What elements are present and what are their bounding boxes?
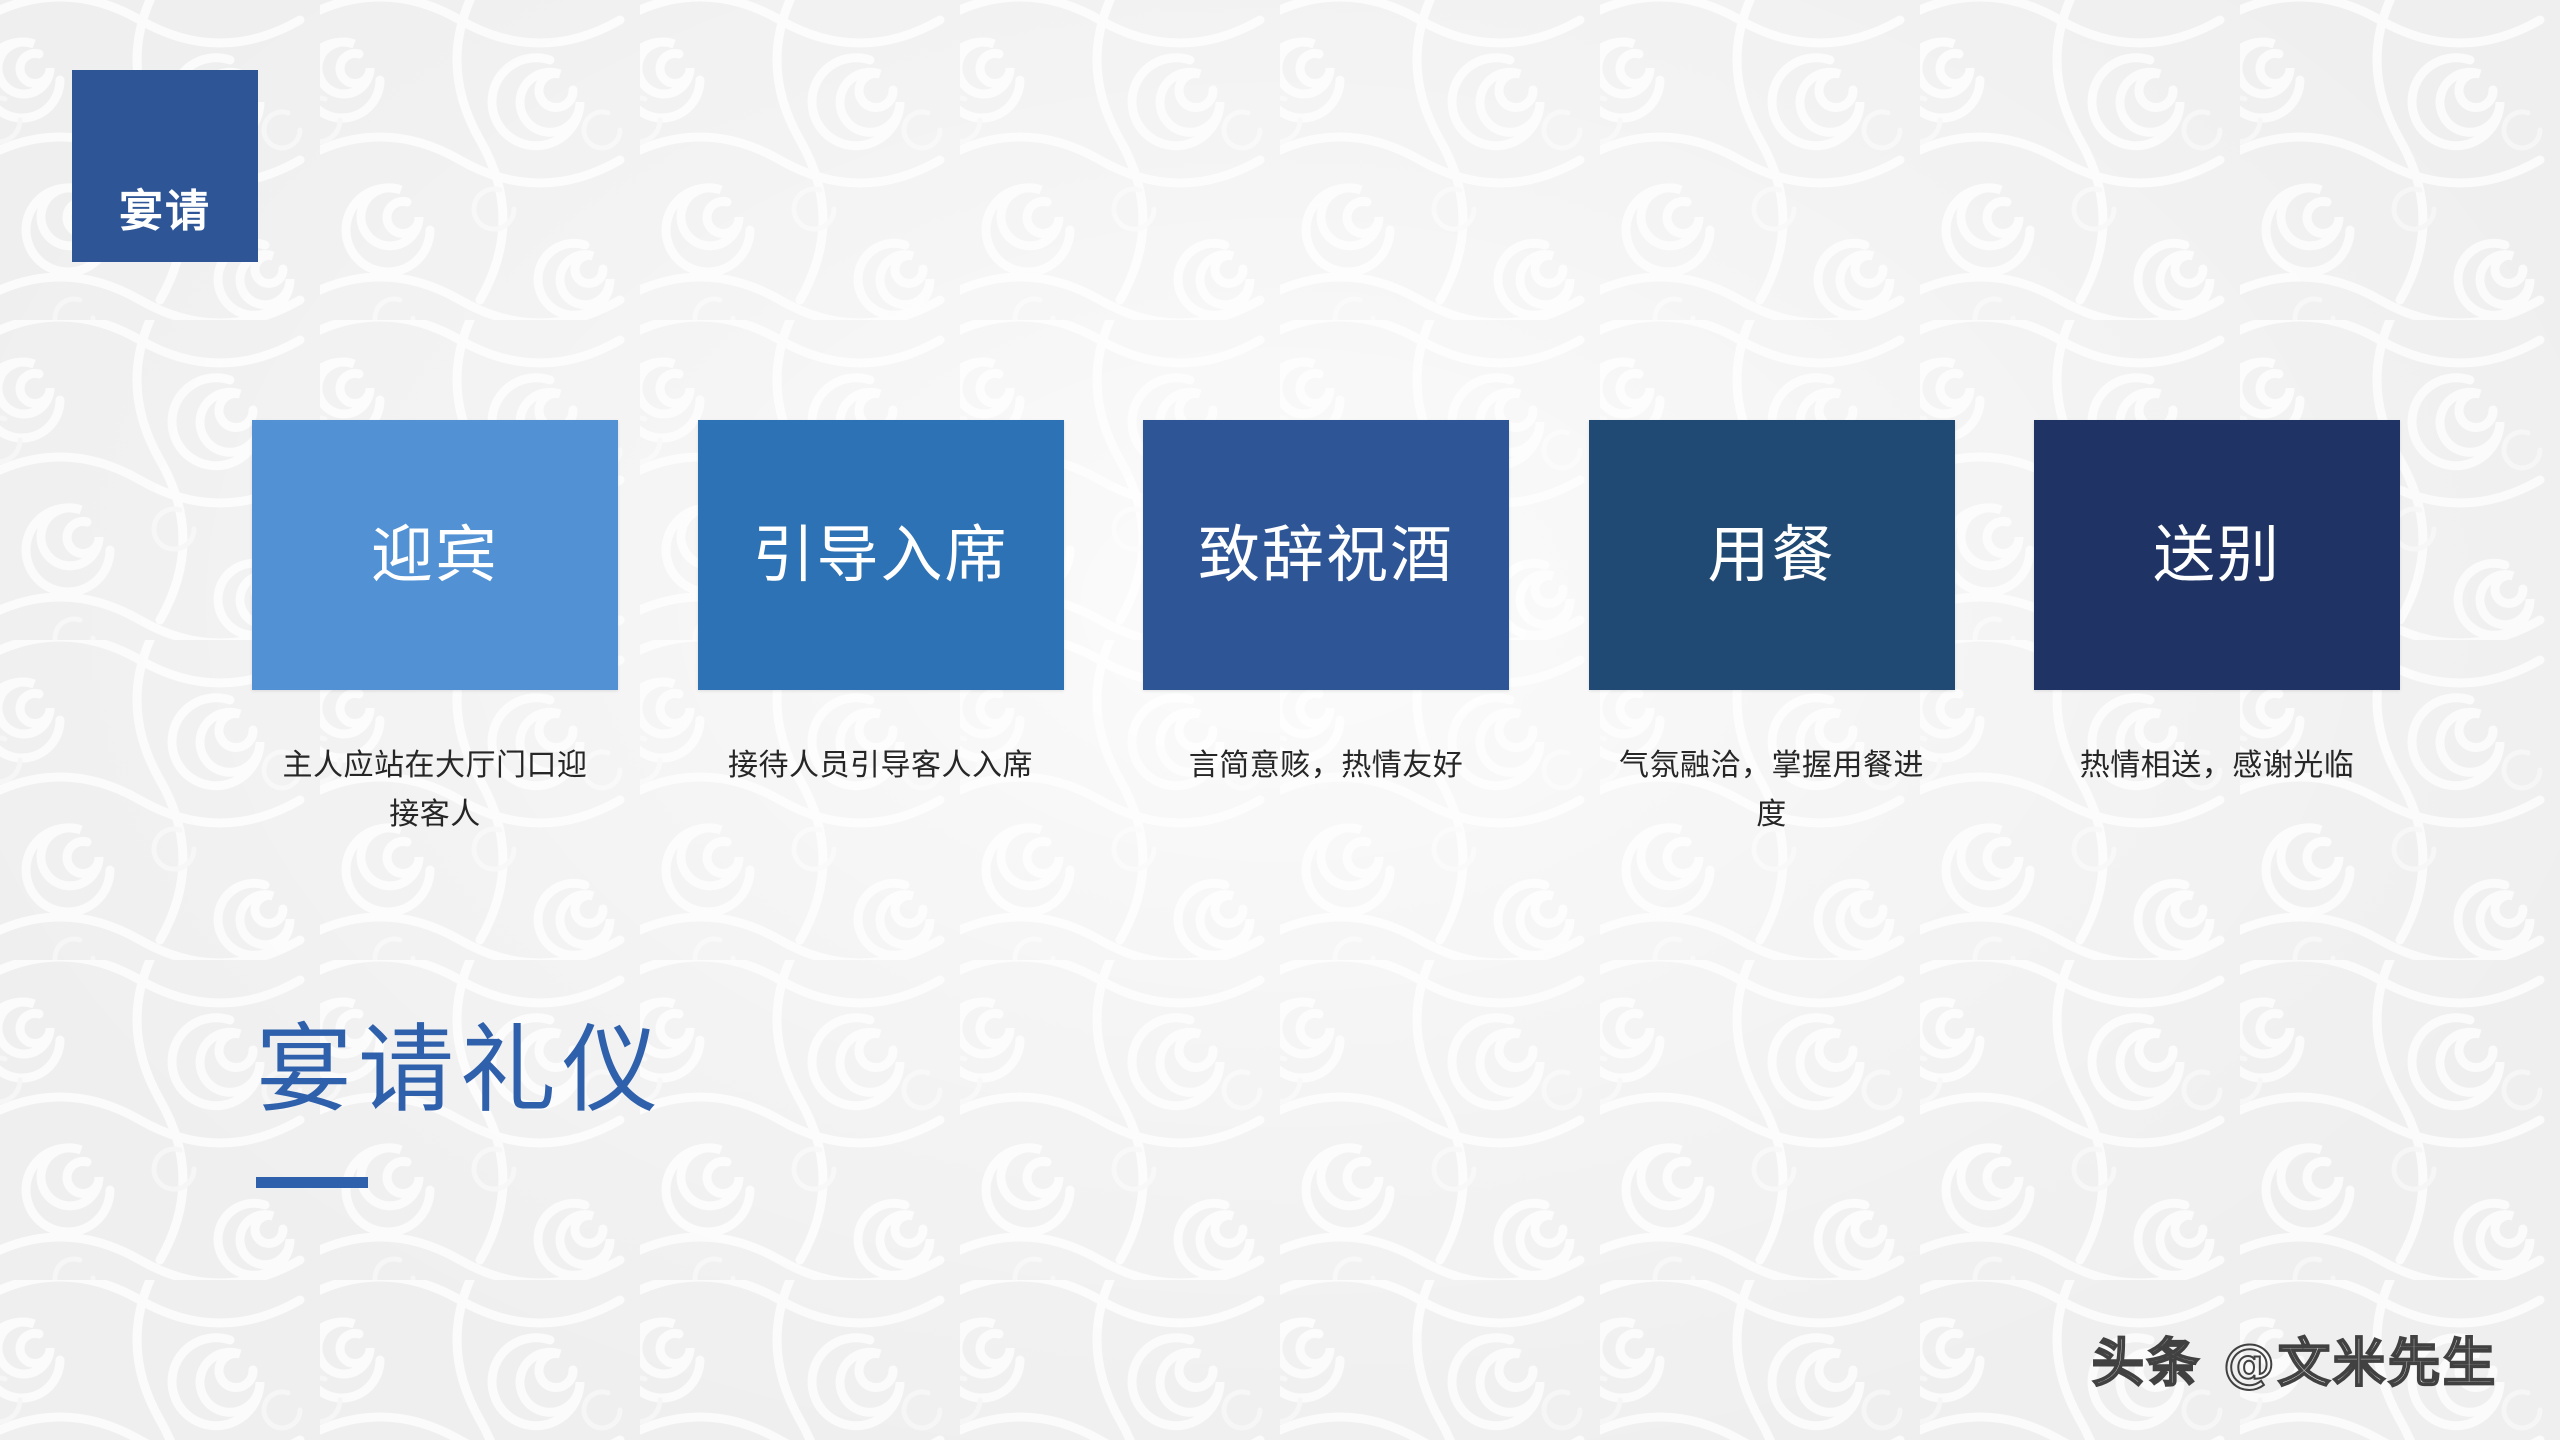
step-title-2: 引导入席 — [752, 524, 1008, 586]
step-title-1: 迎宾 — [371, 524, 499, 586]
slide-canvas: 宴请 迎宾 主人应站在大厅门口迎接客人 引导入席 接待人员引导客人入席 致辞祝酒… — [0, 0, 2560, 1440]
step-caption-1: 主人应站在大厅门口迎接客人 — [280, 742, 590, 839]
process-step: 致辞祝酒 言简意赅，热情友好 — [1143, 420, 1509, 839]
process-steps: 迎宾 主人应站在大厅门口迎接客人 引导入席 接待人员引导客人入席 致辞祝酒 言简… — [252, 420, 2400, 839]
process-step: 迎宾 主人应站在大厅门口迎接客人 — [252, 420, 618, 839]
section-badge-label: 宴请 — [119, 190, 211, 234]
step-box-4[interactable]: 用餐 — [1589, 420, 1955, 690]
step-box-2[interactable]: 引导入席 — [698, 420, 1064, 690]
step-caption-2: 接待人员引导客人入席 — [726, 742, 1036, 791]
headline-block: 宴请礼仪 — [256, 1020, 664, 1188]
step-box-3[interactable]: 致辞祝酒 — [1143, 420, 1509, 690]
process-step: 引导入席 接待人员引导客人入席 — [698, 420, 1064, 839]
headline-underline-rule — [256, 1177, 368, 1188]
watermark: 头条 @文米先生 — [2092, 1321, 2498, 1396]
step-title-5: 送别 — [2153, 524, 2281, 586]
process-step: 用餐 气氛融洽，掌握用餐进度 — [1589, 420, 1955, 839]
step-caption-3: 言简意赅，热情友好 — [1171, 742, 1481, 791]
step-caption-5: 热情相送，感谢光临 — [2062, 742, 2372, 791]
page-title: 宴请礼仪 — [256, 1020, 664, 1121]
section-badge: 宴请 — [72, 70, 258, 262]
step-box-5[interactable]: 送别 — [2034, 420, 2400, 690]
step-box-1[interactable]: 迎宾 — [252, 420, 618, 690]
step-title-3: 致辞祝酒 — [1198, 524, 1454, 586]
step-caption-4: 气氛融洽，掌握用餐进度 — [1617, 742, 1927, 839]
process-step: 送别 热情相送，感谢光临 — [2034, 420, 2400, 839]
step-title-4: 用餐 — [1707, 524, 1835, 586]
